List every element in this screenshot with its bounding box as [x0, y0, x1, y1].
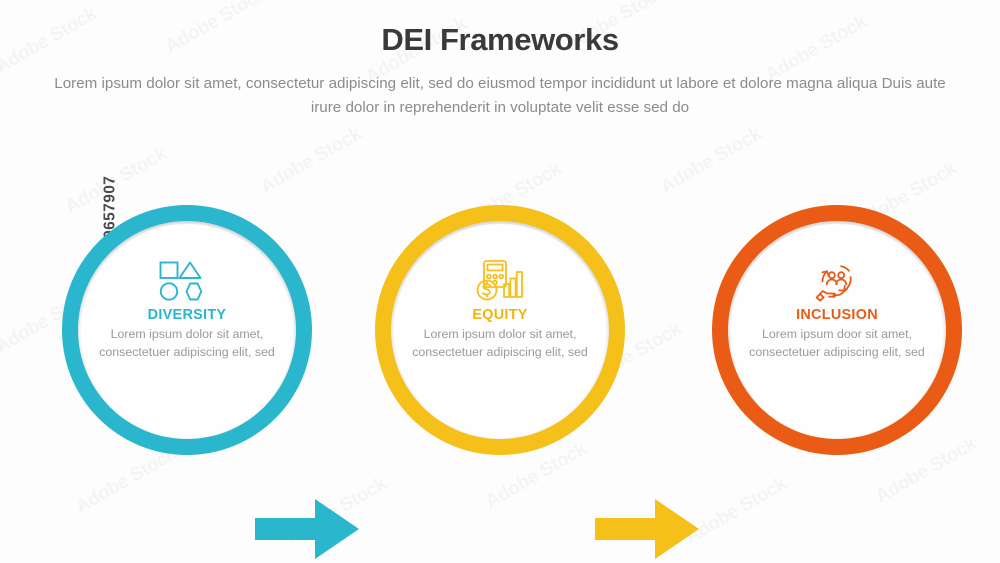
header: DEI Frameworks Lorem ipsum dolor sit ame… [0, 22, 1000, 120]
step-card-equity[interactable]: EQUITY Lorem ipsum dolor sit amet, conse… [375, 205, 625, 455]
step-label-equity: EQUITY [472, 307, 527, 323]
page-title: DEI Frameworks [0, 22, 1000, 58]
calculator-coin-chart-icon [475, 259, 525, 303]
framework-steps-row: DIVERSITY Lorem ipsum dolor sit amet, co… [0, 205, 1000, 455]
step-label-diversity: DIVERSITY [148, 307, 227, 323]
people-hand-cycle-icon [814, 259, 860, 303]
step-description-diversity: Lorem ipsum dolor sit amet, consectetuer… [98, 326, 276, 361]
step-description-inclusion: Lorem ipsum door sit amet, consectetuer … [748, 326, 926, 361]
shapes-icon [158, 259, 216, 303]
infographic-canvas: Adobe Stock Adobe Stock Adobe Stock Adob… [0, 0, 1000, 563]
step-content-inclusion: INCLUSION Lorem ipsum door sit amet, con… [738, 231, 936, 429]
step-description-equity: Lorem ipsum dolor sit amet, consectetuer… [411, 326, 589, 361]
step-content-equity: EQUITY Lorem ipsum dolor sit amet, conse… [401, 231, 599, 429]
step-content-diversity: DIVERSITY Lorem ipsum dolor sit amet, co… [88, 231, 286, 429]
step-label-inclusion: INCLUSION [796, 307, 878, 323]
arrow-diversity-to-equity [255, 491, 365, 563]
arrow-equity-to-inclusion [595, 491, 705, 563]
step-card-diversity[interactable]: DIVERSITY Lorem ipsum dolor sit amet, co… [62, 205, 312, 455]
step-card-inclusion[interactable]: INCLUSION Lorem ipsum door sit amet, con… [712, 205, 962, 455]
watermark-tile: Adobe Stock [257, 123, 366, 198]
page-subtitle: Lorem ipsum dolor sit amet, consectetur … [40, 72, 960, 121]
watermark-tile: Adobe Stock [657, 123, 766, 198]
